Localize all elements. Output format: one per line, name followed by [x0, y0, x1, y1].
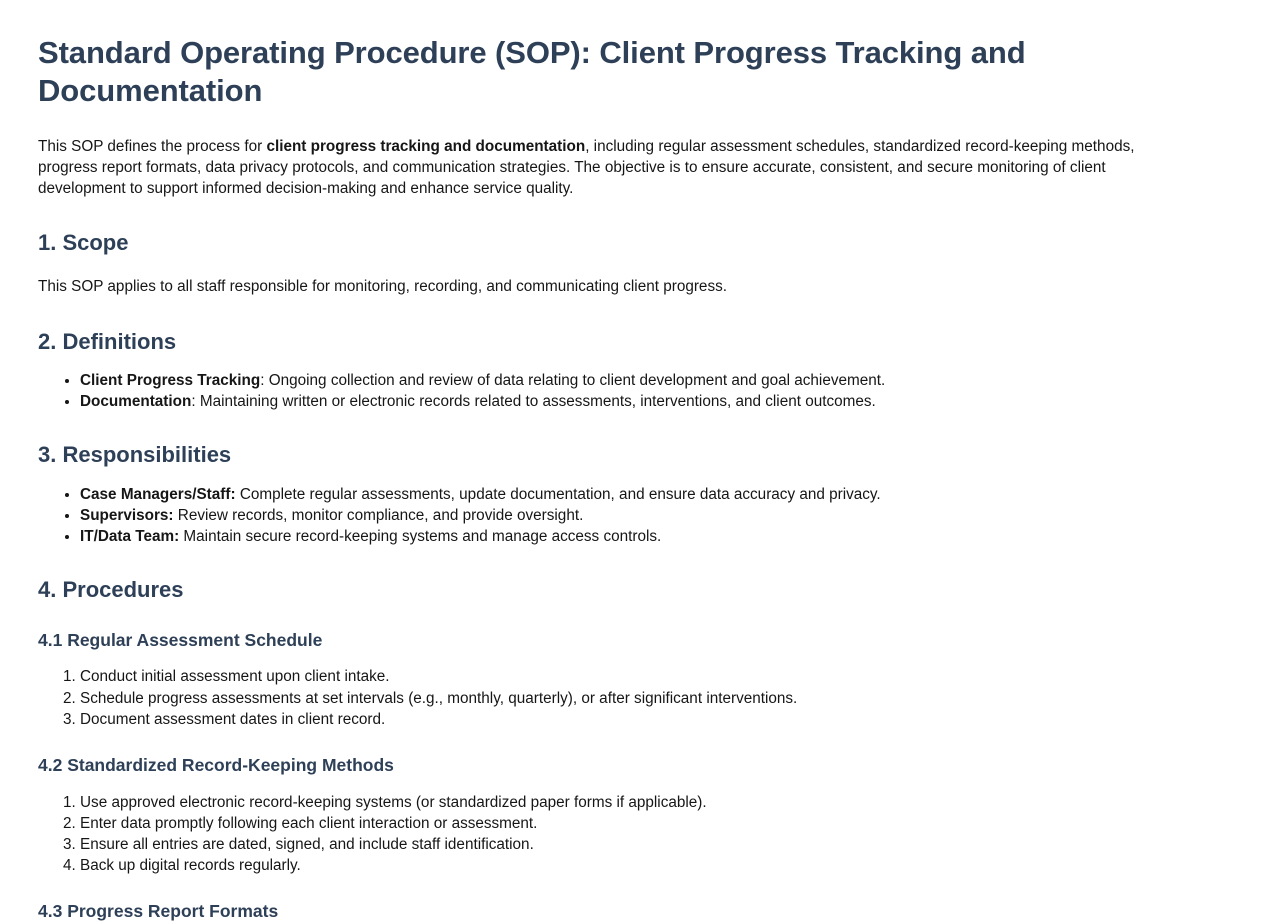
intro-paragraph: This SOP defines the process for client … — [38, 136, 1193, 199]
list-item: Documentation: Maintaining written or el… — [80, 392, 1225, 411]
responsibility-role: Supervisors: — [80, 507, 174, 524]
section-heading-procedures: 4. Procedures — [38, 576, 1225, 604]
list-item: Client Progress Tracking: Ongoing collec… — [80, 371, 1225, 390]
list-item: Conduct initial assessment upon client i… — [80, 667, 1225, 686]
responsibility-description: Complete regular assessments, update doc… — [236, 486, 881, 503]
intro-text-before: This SOP defines the process for — [38, 138, 266, 155]
list-item: Schedule progress assessments at set int… — [80, 689, 1225, 708]
document-page: Standard Operating Procedure (SOP): Clie… — [0, 0, 1263, 923]
responsibility-role: Case Managers/Staff: — [80, 486, 236, 503]
procedure-steps-4-1: Conduct initial assessment upon client i… — [38, 667, 1225, 728]
definition-term: Documentation — [80, 393, 191, 410]
definition-description: : Maintaining written or electronic reco… — [191, 393, 875, 410]
subsection-heading-4-2: 4.2 Standardized Record-Keeping Methods — [38, 755, 1225, 777]
procedure-steps-4-2: Use approved electronic record-keeping s… — [38, 793, 1225, 875]
subsection-heading-4-3: 4.3 Progress Report Formats — [38, 901, 1225, 923]
responsibility-description: Review records, monitor compliance, and … — [174, 507, 584, 524]
section-heading-scope: 1. Scope — [38, 229, 1225, 257]
list-item: Back up digital records regularly. — [80, 856, 1225, 875]
section-heading-responsibilities: 3. Responsibilities — [38, 441, 1225, 469]
list-item: Document assessment dates in client reco… — [80, 710, 1225, 729]
subsection-heading-4-1: 4.1 Regular Assessment Schedule — [38, 630, 1225, 652]
list-item: Enter data promptly following each clien… — [80, 814, 1225, 833]
responsibility-role: IT/Data Team: — [80, 528, 179, 545]
list-item: Use approved electronic record-keeping s… — [80, 793, 1225, 812]
page-title: Standard Operating Procedure (SOP): Clie… — [38, 34, 1128, 110]
definition-term: Client Progress Tracking — [80, 372, 260, 389]
section-heading-definitions: 2. Definitions — [38, 328, 1225, 356]
definitions-list: Client Progress Tracking: Ongoing collec… — [38, 371, 1225, 411]
list-item: Ensure all entries are dated, signed, an… — [80, 835, 1225, 854]
definition-description: : Ongoing collection and review of data … — [260, 372, 885, 389]
list-item: Supervisors: Review records, monitor com… — [80, 506, 1225, 525]
intro-text-bold: client progress tracking and documentati… — [266, 138, 585, 155]
list-item: IT/Data Team: Maintain secure record-kee… — [80, 527, 1225, 546]
responsibility-description: Maintain secure record-keeping systems a… — [179, 528, 661, 545]
scope-paragraph: This SOP applies to all staff responsibl… — [38, 276, 1193, 297]
responsibilities-list: Case Managers/Staff: Complete regular as… — [38, 485, 1225, 546]
list-item: Case Managers/Staff: Complete regular as… — [80, 485, 1225, 504]
